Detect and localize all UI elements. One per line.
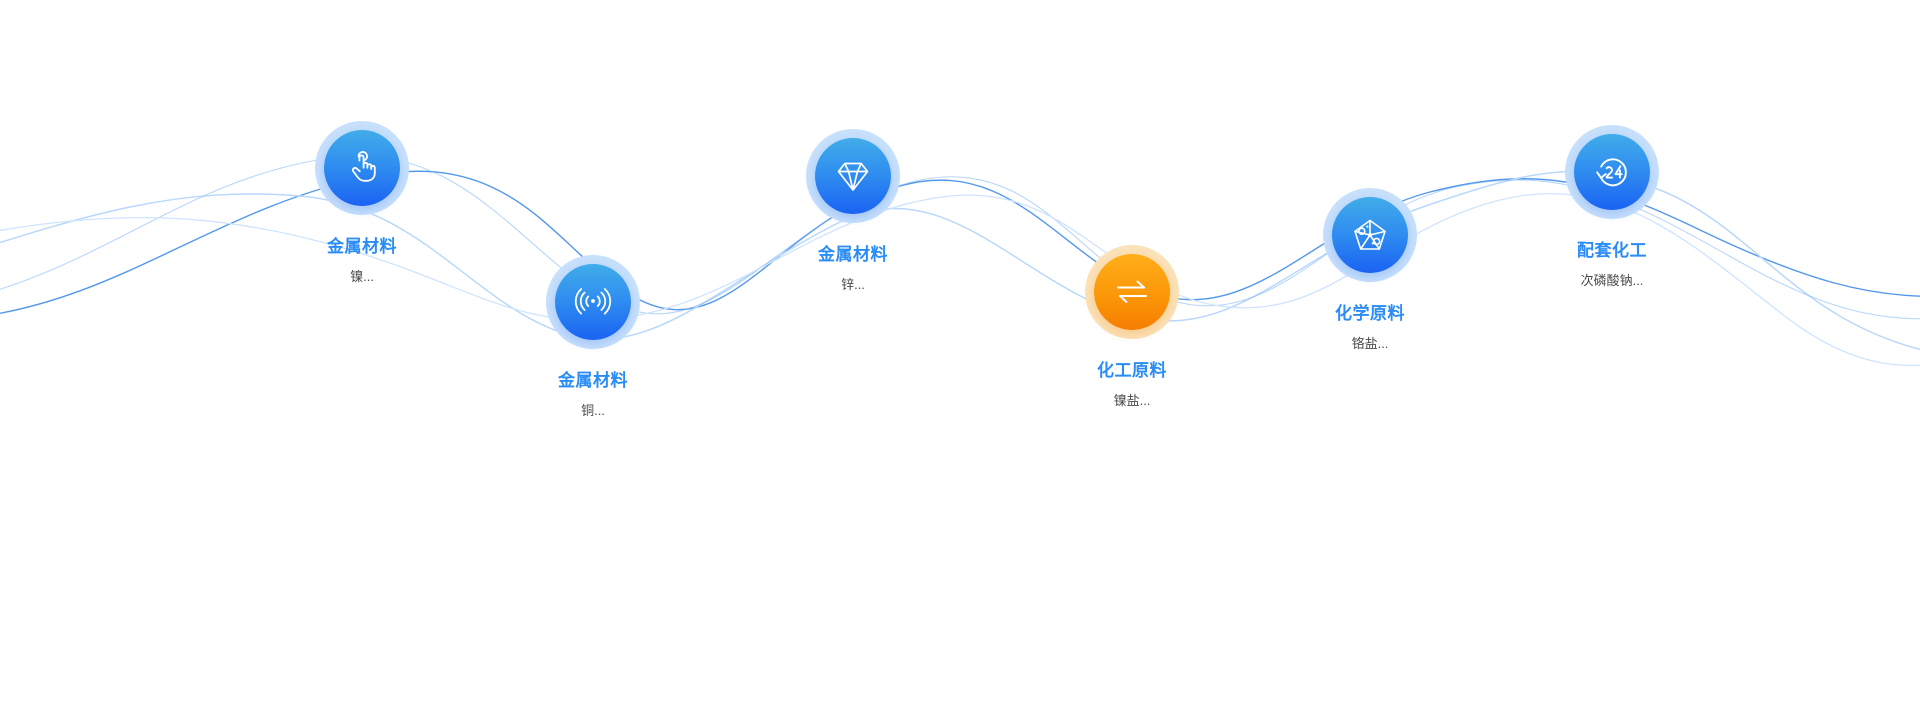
node-disc bbox=[1574, 134, 1650, 210]
flow-node-1[interactable]: 金属材料 镍... bbox=[315, 121, 409, 284]
node-labels: 金属材料 铜... bbox=[558, 372, 628, 418]
node-subtitle: 锌... bbox=[841, 278, 865, 292]
node-title: 化工原料 bbox=[1097, 362, 1167, 381]
node-title: 金属材料 bbox=[818, 246, 888, 265]
node-disc bbox=[1094, 254, 1170, 330]
node-subtitle: 铜... bbox=[581, 404, 605, 418]
node-title: 配套化工 bbox=[1577, 242, 1647, 261]
node-layer: 金属材料 镍... bbox=[0, 0, 1920, 718]
node-halo bbox=[1565, 125, 1659, 219]
node-labels: 配套化工 次磷酸钠... bbox=[1577, 242, 1647, 288]
node-subtitle: 镍... bbox=[350, 270, 374, 284]
24-hour-cycle-icon bbox=[1590, 150, 1634, 194]
node-labels: 金属材料 锌... bbox=[818, 246, 888, 292]
node-title: 金属材料 bbox=[327, 238, 397, 257]
hand-tap-icon bbox=[341, 147, 383, 189]
exchange-arrows-icon bbox=[1110, 270, 1154, 314]
node-disc bbox=[1332, 197, 1408, 273]
flow-node-2[interactable]: 金属材料 铜... bbox=[546, 255, 640, 418]
node-subtitle: 镍盐... bbox=[1114, 394, 1151, 408]
node-disc bbox=[555, 264, 631, 340]
molecule-pentagon-icon bbox=[1348, 213, 1392, 257]
node-title: 金属材料 bbox=[558, 372, 628, 391]
flow-diagram-stage: 金属材料 镍... bbox=[0, 0, 1920, 718]
signal-radar-icon bbox=[572, 281, 614, 323]
node-labels: 化工原料 镍盐... bbox=[1097, 362, 1167, 408]
node-halo bbox=[546, 255, 640, 349]
flow-node-3[interactable]: 金属材料 锌... bbox=[806, 129, 900, 292]
flow-node-6[interactable]: 配套化工 次磷酸钠... bbox=[1565, 125, 1659, 288]
diamond-icon bbox=[831, 154, 875, 198]
node-halo bbox=[806, 129, 900, 223]
node-disc bbox=[815, 138, 891, 214]
node-halo bbox=[1323, 188, 1417, 282]
node-subtitle: 铬盐... bbox=[1352, 337, 1389, 351]
node-labels: 化学原料 铬盐... bbox=[1335, 305, 1405, 351]
node-halo bbox=[1085, 245, 1179, 339]
flow-node-5[interactable]: 化学原料 铬盐... bbox=[1323, 188, 1417, 351]
node-subtitle: 次磷酸钠... bbox=[1581, 274, 1644, 288]
node-halo bbox=[315, 121, 409, 215]
node-labels: 金属材料 镍... bbox=[327, 238, 397, 284]
node-disc bbox=[324, 130, 400, 206]
node-title: 化学原料 bbox=[1335, 305, 1405, 324]
flow-node-4[interactable]: 化工原料 镍盐... bbox=[1085, 245, 1179, 408]
